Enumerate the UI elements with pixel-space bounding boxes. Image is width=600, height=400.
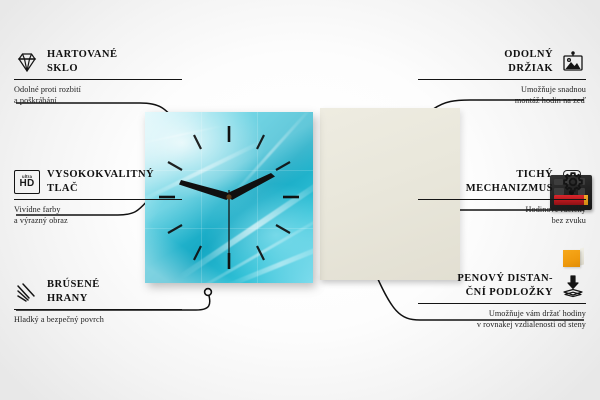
tick-4 — [276, 225, 290, 233]
minute-hand — [226, 173, 276, 200]
feature-description: Hodinové ručičky bez zvuku — [418, 204, 586, 227]
diamond-icon — [14, 49, 40, 75]
feature-tempered-glass[interactable]: HARTOVANÉ SKLO Odolné proti rozbití a po… — [14, 48, 182, 107]
feature-title: VYSOKOKVALITNÝ TLAČ — [47, 168, 154, 196]
feature-divider — [418, 303, 586, 304]
tick-1 — [257, 135, 264, 149]
feature-description: Vivídne farby a výrazný obraz — [14, 204, 182, 227]
feature-silent-mechanism[interactable]: TICHÝ MECHANIZMUS Hodinové ručičky bez z… — [418, 168, 586, 227]
feature-divider — [418, 79, 586, 80]
infographic-stage: HARTOVANÉ SKLO Odolné proti rozbití a po… — [0, 0, 600, 400]
gear-icon — [560, 169, 586, 195]
feature-divider — [14, 309, 182, 310]
tick-11 — [194, 135, 201, 149]
diagonal-lines-icon — [14, 279, 40, 305]
feature-header: PENOVÝ DISTAN- ČNÍ PODLOŽKY — [418, 272, 586, 300]
feature-description: Umožňuje vám držať hodiny v rovnakej vzd… — [418, 308, 586, 331]
feature-foam-spacers[interactable]: PENOVÝ DISTAN- ČNÍ PODLOŽKY Umožňuje vám… — [418, 272, 586, 331]
feature-title: ODOLNÝ DRŽIAK — [504, 48, 553, 76]
feature-divider — [418, 199, 586, 200]
tick-2 — [276, 162, 290, 170]
tick-7 — [194, 246, 201, 260]
feature-durable-holder[interactable]: ODOLNÝ DRŽIAK Umožňuje snadnou montáž ho… — [418, 48, 586, 107]
picture-frame-icon — [560, 49, 586, 75]
feature-description: Odolné proti rozbití a poškrábání — [14, 84, 182, 107]
feature-title: PENOVÝ DISTAN- ČNÍ PODLOŽKY — [457, 272, 553, 300]
feature-divider — [14, 79, 182, 80]
tick-5 — [257, 246, 264, 260]
feature-divider — [14, 199, 182, 200]
feature-header: HARTOVANÉ SKLO — [14, 48, 182, 76]
feature-title: HARTOVANÉ SKLO — [47, 48, 117, 76]
ultra-hd-icon-main-label: HD — [19, 179, 34, 189]
arrow-down-layers-icon — [560, 273, 586, 299]
feature-polished-edges[interactable]: BRÚSENÉ HRANY Hladký a bezpečný povrch — [14, 278, 182, 325]
feature-high-quality-print[interactable]: ultra HD VYSOKOKVALITNÝ TLAČ Vivídne far… — [14, 168, 182, 227]
foam-pad — [563, 250, 580, 267]
feature-header: ODOLNÝ DRŽIAK — [418, 48, 586, 76]
product-photo — [135, 100, 465, 295]
hour-hand — [179, 180, 229, 200]
hand-cap — [226, 194, 231, 199]
foam-pad-side — [580, 248, 584, 266]
ultra-hd-icon: ultra HD — [14, 169, 40, 195]
feature-title: TICHÝ MECHANIZMUS — [466, 168, 553, 196]
feature-description: Umožňuje snadnou montáž hodin na zeď — [418, 84, 586, 107]
feature-header: BRÚSENÉ HRANY — [14, 278, 182, 306]
feature-header: ultra HD VYSOKOKVALITNÝ TLAČ — [14, 168, 182, 196]
feature-header: TICHÝ MECHANIZMUS — [418, 168, 586, 196]
feature-description: Hladký a bezpečný povrch — [14, 314, 182, 326]
feature-title: BRÚSENÉ HRANY — [47, 278, 100, 306]
